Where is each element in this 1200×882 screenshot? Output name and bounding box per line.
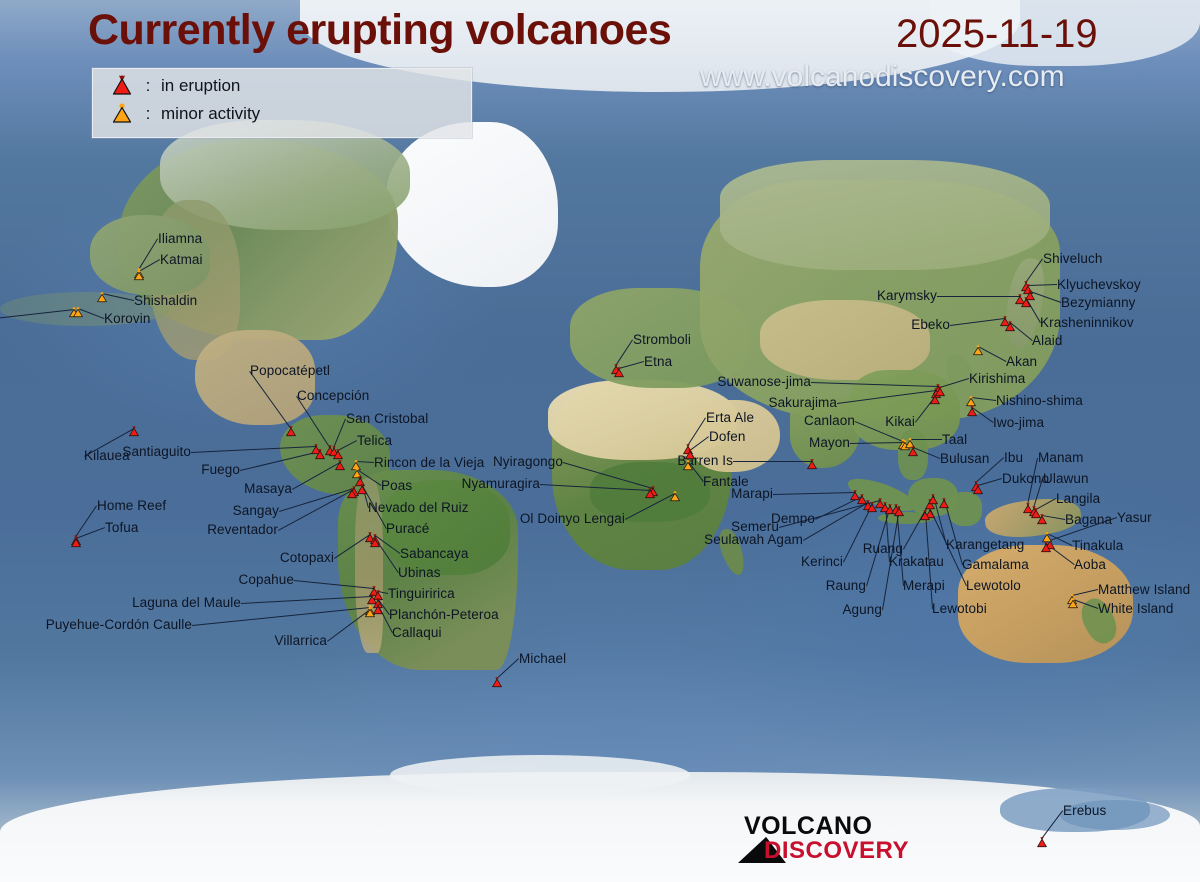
volcano-minor-icon	[969, 344, 987, 357]
legend-colon-erupting: :	[135, 76, 161, 96]
volcano-label: Poas	[381, 479, 412, 493]
volcano-erupting-icon	[488, 676, 506, 689]
central-asia-desert	[760, 300, 930, 380]
volcano-label: Nishino-shima	[996, 394, 1083, 408]
volcano-label: Korovin	[104, 312, 150, 326]
volcano-minor-icon	[666, 490, 684, 503]
volcano-label: Klyuchevskoy	[1057, 278, 1141, 292]
volcano-label: Ulawun	[1043, 472, 1089, 486]
legend-item-erupting: : in eruption	[109, 72, 240, 100]
volcano-label: Iwo-jima	[993, 416, 1044, 430]
volcano-erupting-icon	[969, 483, 987, 496]
volcano-label: Etna	[644, 355, 672, 369]
volcano-label: Fuego	[201, 463, 240, 477]
volcanodiscovery-logo: VOLCANO DISCOVERY	[736, 812, 896, 868]
volcano-label: Yasur	[1117, 511, 1152, 525]
volcano-label: Marapi	[731, 487, 773, 501]
volcano-label: Merapi	[903, 579, 945, 593]
volcano-label: Concepción	[297, 389, 369, 403]
volcano-label: Nevado del Ruiz	[368, 501, 469, 515]
volcano-label: Tinguiririca	[388, 587, 455, 601]
volcano-label: Ubinas	[398, 566, 441, 580]
volcano-erupting-icon	[1033, 513, 1051, 526]
volcano-erupting-icon	[282, 425, 300, 438]
volcano-label: Lewotolo	[966, 579, 1021, 593]
siberia-tundra	[720, 160, 1050, 270]
volcano-label: Michael	[519, 652, 566, 666]
volcano-label: Ol Doinyo Lengai	[520, 512, 625, 526]
volcano-label: Katmai	[160, 253, 203, 267]
volcano-label: Taal	[942, 433, 967, 447]
volcano-label: Planchón-Peteroa	[389, 608, 499, 622]
volcano-label: Raung	[826, 579, 866, 593]
volcano-map-page: Currently erupting volcanoes 2025-11-19 …	[0, 0, 1200, 882]
volcano-label: Krasheninnikov	[1040, 316, 1134, 330]
volcano-label: Langila	[1056, 492, 1100, 506]
volcano-erupting-icon	[1017, 296, 1035, 309]
page-title: Currently erupting volcanoes	[88, 6, 671, 55]
volcano-label: Alaid	[1032, 334, 1063, 348]
volcano-label: Ibu	[1004, 451, 1023, 465]
volcano-label: Puyehue-Cordón Caulle	[46, 618, 192, 632]
volcano-erupting-icon	[610, 366, 628, 379]
volcano-leader-line	[733, 461, 812, 462]
volcano-label: Bulusan	[940, 452, 990, 466]
volcano-label: Puracé	[386, 522, 429, 536]
volcano-erupting-icon	[916, 509, 934, 522]
volcano-erupting-icon	[1033, 836, 1051, 849]
volcano-erupting-icon	[67, 536, 85, 549]
volcano-label: Stromboli	[633, 333, 691, 347]
volcano-minor-icon	[109, 101, 135, 127]
volcano-erupting-icon	[125, 425, 143, 438]
volcano-label: Erebus	[1063, 804, 1106, 818]
volcano-label: Sakurajima	[768, 396, 837, 410]
volcano-label: White Island	[1098, 602, 1173, 616]
volcano-label: Sabancaya	[400, 547, 468, 561]
volcano-label: Manam	[1038, 451, 1084, 465]
volcano-label: Agung	[842, 603, 882, 617]
volcano-label: Krakatau	[889, 555, 944, 569]
legend-label-minor: minor activity	[161, 104, 260, 124]
volcano-leader-line	[937, 296, 1020, 297]
sulawesi-landmass	[948, 492, 982, 526]
volcano-label: Mayon	[809, 436, 850, 450]
volcano-label: Nyamuragira	[462, 477, 540, 491]
volcano-minor-icon	[69, 306, 87, 319]
volcano-label: Villarrica	[274, 634, 327, 648]
antarctica-peninsula	[390, 755, 690, 795]
volcano-label: Shishaldin	[134, 294, 197, 308]
legend-colon-minor: :	[135, 104, 161, 124]
volcano-label: Copahue	[239, 573, 295, 587]
volcano-erupting-icon	[803, 458, 821, 471]
volcano-erupting-icon	[343, 487, 361, 500]
volcano-label: Kerinci	[801, 555, 843, 569]
volcano-label: Santiaguito	[122, 445, 191, 459]
volcano-erupting-icon	[890, 505, 908, 518]
volcano-label: Callaqui	[392, 626, 442, 640]
volcano-label: Bezymianny	[1061, 296, 1136, 310]
volcano-minor-icon	[361, 606, 379, 619]
volcano-erupting-icon	[366, 536, 384, 549]
volcano-erupting-icon	[641, 487, 659, 500]
volcano-label: San Cristobal	[346, 412, 428, 426]
legend-label-erupting: in eruption	[161, 76, 240, 96]
volcano-label: Ruang	[863, 542, 903, 556]
volcano-label: Akan	[1006, 355, 1037, 369]
volcano-label: Sangay	[233, 504, 279, 518]
legend-panel: : in eruption : minor activity	[92, 68, 472, 138]
volcano-label: Masaya	[244, 482, 292, 496]
volcano-label: Karangetang	[946, 538, 1024, 552]
volcano-label: Matthew Island	[1098, 583, 1190, 597]
website-url: www.volcanodiscovery.com	[700, 60, 1065, 94]
volcano-minor-icon	[679, 459, 697, 472]
volcano-label: Bagana	[1065, 513, 1112, 527]
volcano-label: Iliamna	[158, 232, 202, 246]
volcano-erupting-icon	[109, 73, 135, 99]
volcano-erupting-icon	[1037, 541, 1055, 554]
volcano-label: Lewotobi	[932, 602, 987, 616]
volcano-erupting-icon	[963, 405, 981, 418]
volcano-erupting-icon	[904, 445, 922, 458]
volcano-label: Laguna del Maule	[132, 596, 241, 610]
volcano-label: Dofen	[709, 430, 746, 444]
volcano-label: Home Reef	[97, 499, 166, 513]
logo-text-discovery: DISCOVERY	[764, 837, 909, 865]
volcano-label: Canlaon	[804, 414, 855, 428]
volcano-label: Shiveluch	[1043, 252, 1102, 266]
volcano-label: Tofua	[105, 521, 139, 535]
volcano-label: Tinakula	[1072, 539, 1123, 553]
volcano-label: Ebeko	[911, 318, 950, 332]
volcano-label: Kirishima	[969, 372, 1025, 386]
volcano-label: Telica	[357, 434, 392, 448]
volcano-label: Erta Ale	[706, 411, 754, 425]
legend-item-minor: : minor activity	[109, 100, 260, 128]
volcano-label: Suwanose-jima	[717, 375, 811, 389]
volcano-label: Aoba	[1074, 558, 1106, 572]
volcano-minor-icon	[130, 269, 148, 282]
volcano-minor-icon	[1064, 597, 1082, 610]
volcano-label: Seulawah Agam	[704, 533, 803, 547]
volcano-label: Rincon de la Vieja	[374, 456, 484, 470]
volcano-label: Gamalama	[962, 558, 1029, 572]
volcano-erupting-icon	[926, 393, 944, 406]
volcano-label: Kikai	[885, 415, 915, 429]
volcano-label: Nyiragongo	[493, 455, 563, 469]
volcano-minor-icon	[93, 291, 111, 304]
volcano-label: Karymsky	[877, 289, 937, 303]
volcano-label: Reventador	[207, 523, 278, 537]
volcano-label: Cotopaxi	[280, 551, 334, 565]
volcano-erupting-icon	[1001, 320, 1019, 333]
volcano-label: Popocatépetl	[250, 364, 330, 378]
map-date: 2025-11-19	[896, 12, 1098, 57]
